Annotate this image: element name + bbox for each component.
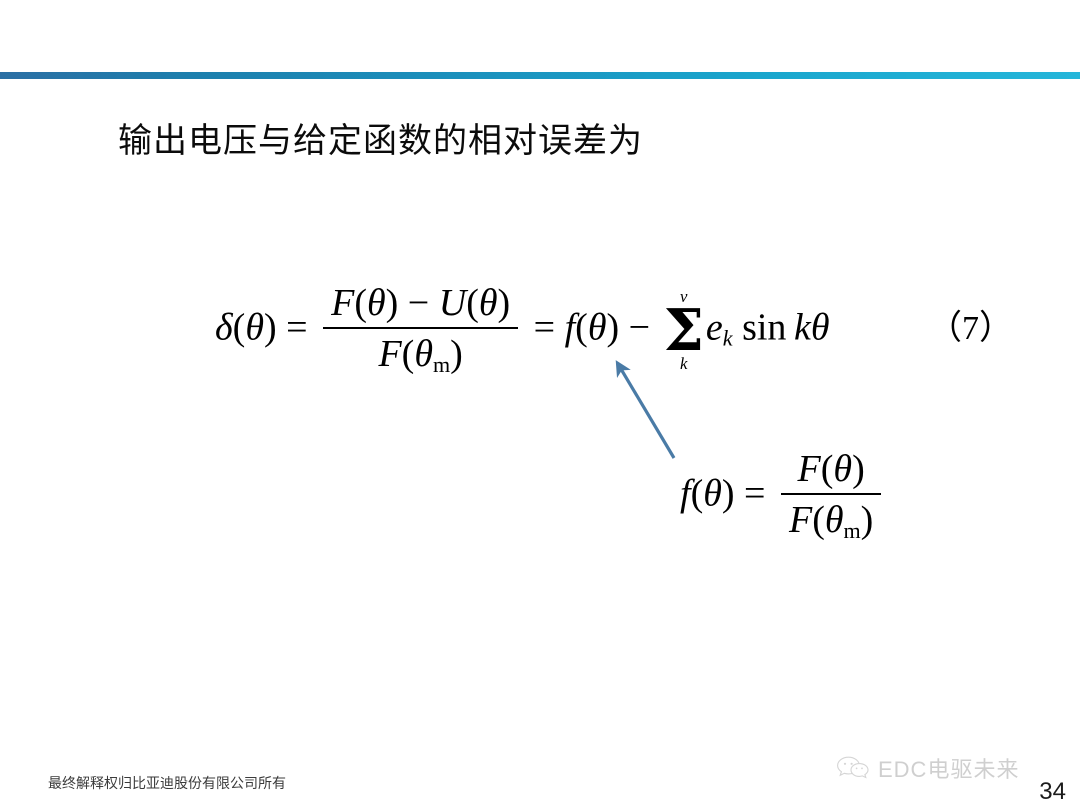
symbol-theta-num-1: θ — [367, 282, 386, 324]
fraction-f: F(θ) F(θm) — [781, 447, 881, 544]
symbol-theta-rhs: θ — [588, 306, 607, 348]
footer-copyright-note: 最终解释权归比亚迪股份有限公司所有 — [48, 773, 286, 793]
fraction-f-denominator: F(θm) — [781, 495, 881, 544]
symbol-theta-f: θ — [703, 472, 722, 514]
paren-open-den: ( — [402, 333, 415, 375]
slide-canvas: 输出电压与给定函数的相对误差为 δ(θ) = F(θ) − U(θ) F(θm)… — [0, 0, 1080, 810]
paren-open: ( — [233, 306, 246, 348]
paren-open-2: ( — [466, 282, 479, 324]
paren-open-f: ( — [691, 472, 704, 514]
equals-sign-1: = — [286, 306, 307, 348]
subscript-m-f-den: m — [844, 518, 861, 543]
symbol-theta: θ — [245, 306, 264, 348]
page-title: 输出电压与给定函数的相对误差为 — [118, 121, 643, 164]
fraction-delta: F(θ) − U(θ) F(θm) — [323, 281, 518, 378]
fraction-numerator: F(θ) − U(θ) — [323, 281, 518, 329]
symbol-F-den: F — [378, 333, 401, 375]
equals-sign-f: = — [744, 472, 765, 514]
symbol-F-num: F — [331, 282, 354, 324]
annotation-arrow-icon — [596, 348, 696, 468]
symbol-delta: δ — [215, 306, 233, 348]
fraction-f-numerator: F(θ) — [781, 447, 881, 495]
paren-open-f-num: ( — [821, 448, 834, 490]
paren-open-f-den: ( — [812, 499, 825, 541]
symbol-F-f-den: F — [789, 499, 812, 541]
symbol-F-f-num: F — [798, 448, 821, 490]
minus-sign-num: − — [408, 282, 429, 324]
page-number: 34 — [1039, 778, 1066, 806]
header-rule — [0, 72, 1080, 79]
symbol-theta-end: θ — [811, 306, 830, 348]
equation-main: δ(θ) = F(θ) − U(θ) F(θm) = f(θ) − ν Σ k … — [215, 282, 830, 379]
paren-close-rhs: ) — [607, 306, 620, 348]
symbol-f-lhs: f — [680, 472, 691, 514]
subscript-k-e: k — [723, 325, 733, 350]
watermark: EDC电驱未来 — [836, 752, 1019, 784]
equation-f-definition: f(θ) = F(θ) F(θm) — [680, 448, 887, 545]
symbol-k: k — [794, 306, 811, 348]
symbol-f-rhs: f — [565, 306, 576, 348]
symbol-theta-den: θ — [414, 333, 433, 375]
paren-open-rhs: ( — [575, 306, 588, 348]
watermark-label: EDC电驱未来 — [878, 752, 1019, 784]
symbol-U-num: U — [439, 282, 466, 324]
paren-close-f-num: ) — [852, 448, 865, 490]
function-sin: sin — [742, 306, 786, 348]
paren-close-1: ) — [386, 282, 399, 324]
wechat-icon — [836, 755, 870, 781]
paren-close-den: ) — [450, 333, 463, 375]
symbol-e: e — [706, 306, 723, 348]
fraction-denominator: F(θm) — [323, 329, 518, 378]
paren-close: ) — [264, 306, 277, 348]
symbol-theta-num-2: θ — [479, 282, 498, 324]
paren-close-f-den: ) — [861, 499, 874, 541]
equation-number: （7） — [928, 300, 1013, 349]
equals-sign-2: = — [534, 306, 555, 348]
symbol-theta-f-den: θ — [825, 499, 844, 541]
symbol-theta-f-num: θ — [833, 448, 852, 490]
paren-open-1: ( — [354, 282, 367, 324]
paren-close-2: ) — [498, 282, 511, 324]
subscript-m-den: m — [433, 352, 450, 377]
paren-close-f: ) — [722, 472, 735, 514]
minus-sign-rhs: − — [629, 306, 650, 348]
